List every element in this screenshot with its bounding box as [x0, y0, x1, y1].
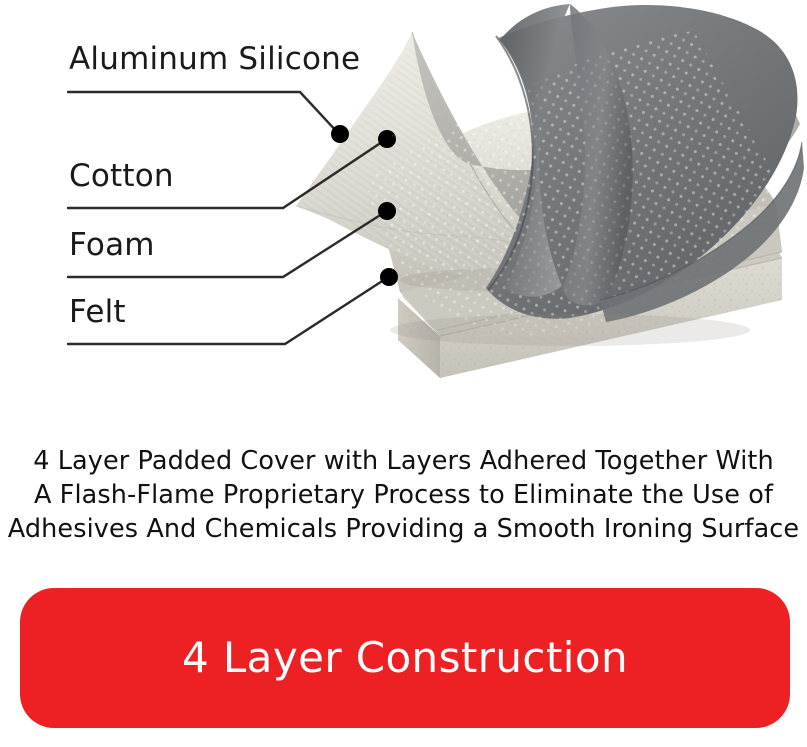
callout-label-cotton: Cotton [69, 161, 174, 192]
description-line-3: Adhesives And Chemicals Providing a Smoo… [0, 512, 807, 546]
banner-title: 4 Layer Construction [182, 637, 628, 679]
infographic-root: Aluminum Silicone Cotton Foam Felt 4 Lay… [0, 0, 807, 747]
description-paragraph: 4 Layer Padded Cover with Layers Adhered… [0, 444, 807, 546]
construction-banner: 4 Layer Construction [20, 588, 790, 728]
callout-label-foam: Foam [69, 230, 155, 261]
callout-label-aluminum-silicone: Aluminum Silicone [69, 44, 360, 75]
callout-label-felt: Felt [69, 297, 126, 328]
description-line-2: A Flash-Flame Proprietary Process to Eli… [0, 478, 807, 512]
description-line-1: 4 Layer Padded Cover with Layers Adhered… [0, 444, 807, 478]
